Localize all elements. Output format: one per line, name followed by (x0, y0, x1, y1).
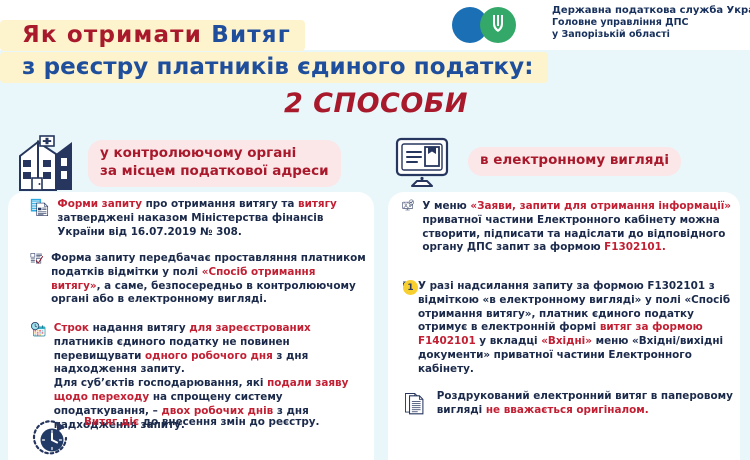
clock-arrow-icon (30, 416, 76, 460)
icon-slot (30, 416, 76, 460)
column-in-person: у контролюючому органі за місцем податко… (8, 134, 378, 192)
icon-slot (30, 252, 43, 296)
org-unit-line2: у Запорізькій області (552, 29, 748, 41)
icon-slot (30, 198, 49, 242)
notification-badge: 1 (403, 280, 418, 295)
column-left-title: у контролюючому органі за місцем податко… (88, 140, 341, 187)
title-line-2: з реєстру платників єдиного податку: (0, 52, 548, 83)
list-item-text: Форми запиту про отримання витягу та вит… (57, 198, 368, 239)
column-left-title-line1: у контролюючому органі (100, 145, 329, 163)
list-item-text: У меню «Заяви, запити для отримання інфо… (422, 200, 734, 255)
documents-icon (30, 198, 49, 217)
column-electronic: в електронному вигляді (388, 134, 746, 192)
column-right-header: в електронному вигляді (388, 134, 746, 192)
trident-icon (492, 14, 504, 36)
org-unit-line1: Головне управління ДПС (552, 17, 748, 29)
list-item: Форма запиту передбачає проставляння пла… (30, 252, 368, 307)
list-item: Витяг діє до внесення змін до реєстру. (30, 416, 368, 460)
ways-count: 2 СПОСОБИ (0, 88, 468, 119)
page-title: Як отримати Витяг з реєстру платників єд… (0, 20, 472, 84)
building-icon (16, 134, 82, 192)
list-item-text: Форма запиту передбачає проставляння пла… (51, 252, 368, 307)
column-left-header: у контролюючому органі за місцем податко… (8, 134, 378, 192)
icon-slot (30, 322, 46, 366)
org-identity: Державна податкова служба України Головн… (552, 5, 748, 40)
printed-papers-icon (402, 390, 429, 416)
column-left-title-line2: за місцем податкової адреси (100, 163, 329, 181)
id-monitor-check-icon (402, 200, 414, 212)
list-item: У меню «Заяви, запити для отримання інфо… (402, 200, 734, 255)
title-line-1-blue: Витяг (211, 22, 291, 48)
list-item: Роздрукований електронний витяг в паперо… (402, 390, 734, 434)
calendar-clock-icon (30, 322, 46, 337)
list-item-text: Витяг діє до внесення змін до реєстру. (84, 416, 320, 430)
infographic-page: Державна податкова служба України Головн… (0, 0, 750, 460)
checklist-icon (30, 252, 43, 265)
icon-slot (402, 200, 414, 244)
monitor-icon (394, 136, 456, 190)
icon-slot (402, 390, 429, 434)
icon-slot: 1 (402, 280, 410, 324)
list-item-text: Роздрукований електронний витяг в паперо… (437, 390, 734, 418)
org-name: Державна податкова служба України (552, 5, 748, 17)
list-item-text: У разі надсилання запиту за формою F1302… (418, 280, 734, 377)
title-line-1-red: Як отримати (22, 22, 202, 48)
column-right-title: в електронному вигляді (468, 147, 681, 176)
title-line-1: Як отримати Витяг (0, 20, 305, 51)
list-item: 1 У разі надсилання запиту за формою F13… (402, 280, 734, 377)
list-item: Форми запиту про отримання витягу та вит… (30, 198, 368, 242)
